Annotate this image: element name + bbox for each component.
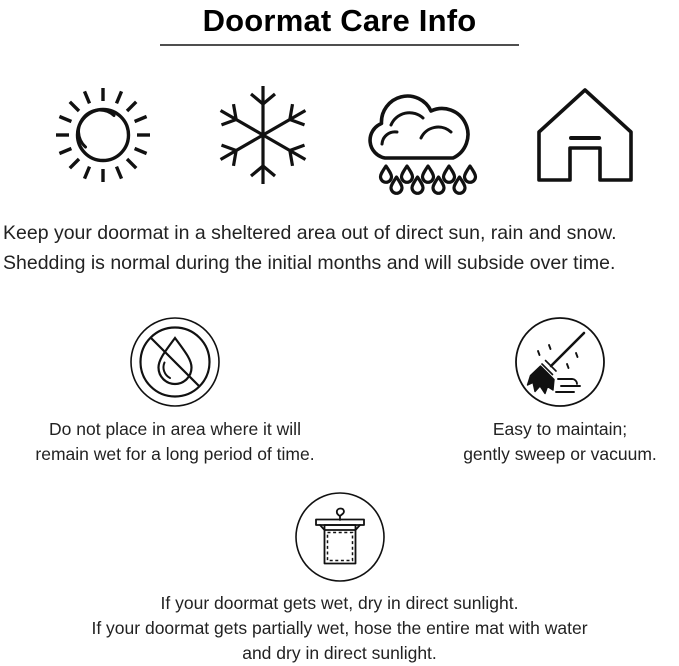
title-underline-rule <box>160 44 519 46</box>
drying-caption-line-2: If your doormat gets partially wet, hose… <box>0 616 679 641</box>
care-items-row: Do not place in area where it will remai… <box>0 312 679 462</box>
care-item-drying: If your doormat gets wet, dry in direct … <box>0 487 679 666</box>
care-item-caption-line-2: remain wet for a long period of time. <box>10 442 340 467</box>
care-item-no-standing-water: Do not place in area where it will remai… <box>10 312 340 467</box>
no-water-icon <box>10 312 340 412</box>
rain-cloud-icon <box>338 70 508 200</box>
care-item-caption-line-1: Do not place in area where it will <box>10 417 340 442</box>
page-title: Doormat Care Info <box>0 2 679 40</box>
hanging-mat-icon <box>0 487 679 587</box>
page-header: Doormat Care Info <box>0 0 679 46</box>
intro-line-1: Keep your doormat in a sheltered area ou… <box>3 218 679 248</box>
care-item-easy-maintain: Easy to maintain; gently sweep or vacuum… <box>395 312 679 467</box>
care-item-caption: Easy to maintain; gently sweep or vacuum… <box>395 417 679 467</box>
snowflake-icon <box>178 70 348 200</box>
drying-caption-line-1: If your doormat gets wet, dry in direct … <box>0 591 679 616</box>
house-icon <box>500 70 670 200</box>
broom-icon <box>395 312 679 412</box>
care-item-caption: Do not place in area where it will remai… <box>10 417 340 467</box>
care-item-caption-line-2: gently sweep or vacuum. <box>395 442 679 467</box>
intro-paragraph: Keep your doormat in a sheltered area ou… <box>3 218 679 278</box>
weather-icon-row <box>0 70 679 200</box>
sun-icon <box>18 70 188 200</box>
intro-line-2: Shedding is normal during the initial mo… <box>3 248 679 278</box>
care-item-caption-line-1: Easy to maintain; <box>395 417 679 442</box>
drying-caption-line-3: and dry in direct sunlight. <box>0 641 679 666</box>
